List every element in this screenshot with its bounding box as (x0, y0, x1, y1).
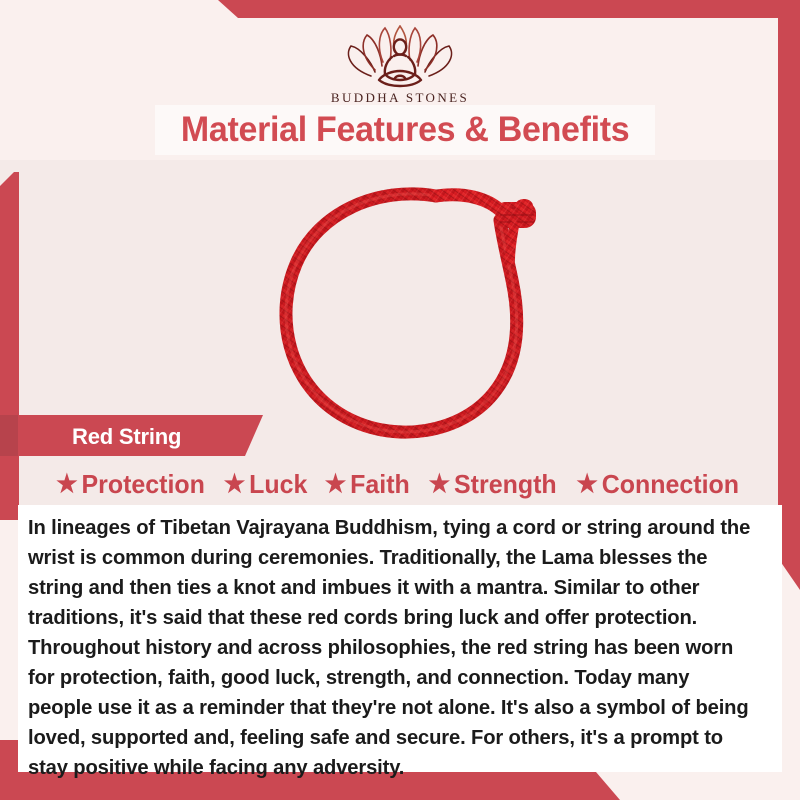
star-icon: ★ (429, 472, 451, 497)
decoration-left-bar (0, 172, 19, 520)
feature-item-faith: ★ Faith (325, 469, 410, 500)
lotus-meditation-icon (335, 18, 465, 88)
feature-label: Luck (249, 469, 307, 500)
description-block: In lineages of Tibetan Vajrayana Buddhis… (18, 505, 782, 772)
page-title: Material Features & Benefits (155, 105, 655, 155)
star-icon: ★ (577, 472, 599, 497)
star-icon: ★ (56, 472, 78, 497)
infographic-page: BUDDHA STONES Material Features & Benefi… (0, 0, 800, 800)
brand-logo: BUDDHA STONES (0, 18, 800, 106)
product-banner-label: Red String (72, 424, 181, 450)
red-braided-string-bracelet (258, 168, 568, 468)
feature-label: Faith (351, 469, 411, 500)
page-title-text: Material Features & Benefits (181, 110, 629, 150)
star-icon: ★ (325, 472, 347, 497)
brand-name: BUDDHA STONES (331, 90, 469, 106)
feature-item-connection: ★ Connection (577, 469, 740, 500)
feature-label: Protection (82, 469, 205, 500)
feature-label: Strength (454, 469, 557, 500)
feature-label: Connection (602, 469, 739, 500)
feature-item-protection: ★ Protection (56, 469, 205, 500)
decoration-top-bar (0, 0, 800, 18)
feature-list: ★ Protection ★ Luck ★ Faith ★ Strength ★… (18, 464, 778, 504)
feature-item-strength: ★ Strength (429, 469, 557, 500)
description-paragraph: In lineages of Tibetan Vajrayana Buddhis… (28, 513, 757, 783)
feature-item-luck: ★ Luck (224, 469, 308, 500)
star-icon: ★ (224, 472, 246, 497)
